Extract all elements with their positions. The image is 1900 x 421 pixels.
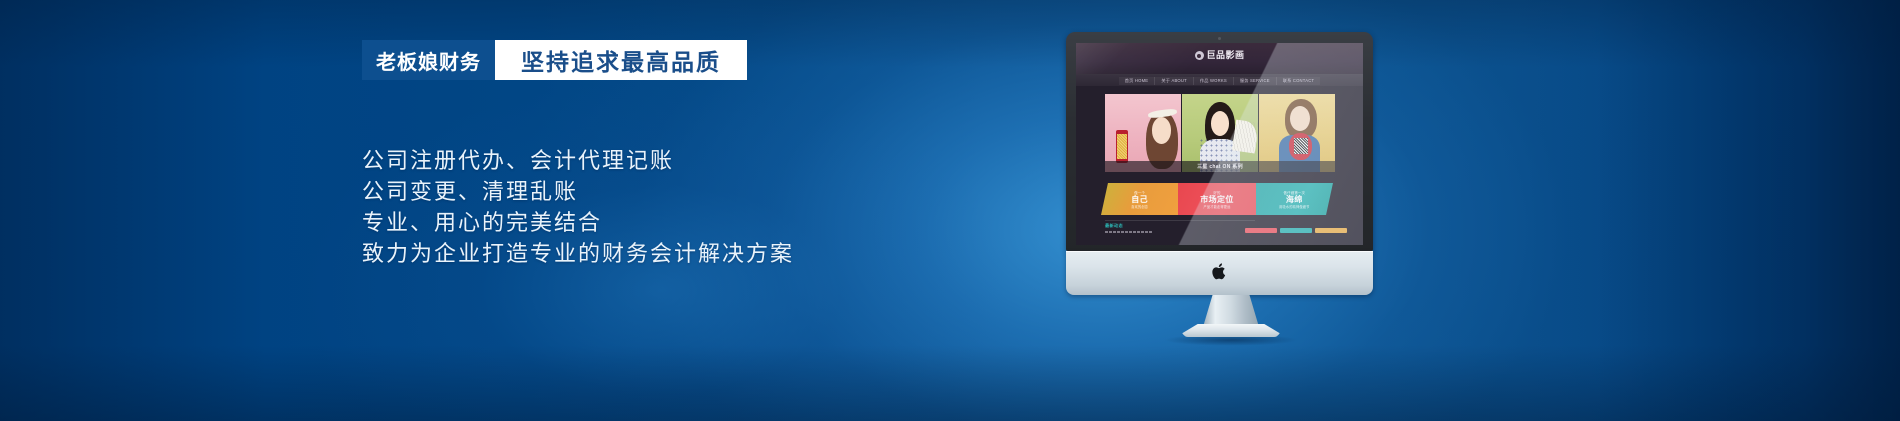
aperture-icon: [1194, 51, 1203, 60]
nav-item-contact[interactable]: 联系 CONTACT: [1276, 77, 1320, 85]
apple-logo-icon: [1212, 262, 1228, 281]
imac-base: [1182, 324, 1280, 337]
feature-panel-3[interactable]: 做仔细第一次 海绵 用吸水的精神做细节: [1256, 183, 1333, 215]
banner-stage: 老板娘财务 坚持追求最高品质 公司注册代办、会计代理记账 公司变更、清理乱账 专…: [0, 0, 1900, 421]
divider: [1105, 220, 1255, 221]
model-face: [1152, 117, 1171, 144]
site-nav: 首页 HOME 关于 ABOUT 作品 WORKS 服务 SERVICE 联系 …: [1076, 74, 1363, 86]
fan-prop: [1232, 119, 1258, 153]
feature-panel-1-sub: 喜欢的创意: [1131, 204, 1148, 209]
nav-item-works[interactable]: 作品 WORKS: [1193, 77, 1233, 85]
copy-lines: 公司注册代办、会计代理记账 公司变更、清理乱账 专业、用心的完美结合 致力为企业…: [362, 145, 1102, 269]
feature-panel-1-title: 自己: [1131, 195, 1148, 204]
slogan-label: 坚持追求最高品质: [495, 40, 747, 80]
imac-screen: 巨品影画 首页 HOME 关于 ABOUT 作品 WORKS 服务 SERVIC…: [1076, 43, 1363, 245]
gallery-caption: 三星 chat ON 系列: [1105, 161, 1335, 172]
copy-line-1: 公司注册代办、会计代理记账: [362, 145, 1102, 176]
apple-prop: [1289, 133, 1312, 160]
nav-item-about[interactable]: 关于 ABOUT: [1154, 77, 1193, 85]
site-feature-panels: 做一个 自己 喜欢的创意 好的 市场定位 产品才能走得更远 做仔细第一次 海绵: [1101, 183, 1333, 215]
gallery-caption-text: 三星 chat ON 系列: [1197, 163, 1243, 170]
imac-stand: [1203, 295, 1259, 327]
feature-panel-3-title: 海绵: [1286, 195, 1303, 204]
feature-panel-2-title: 市场定位: [1200, 195, 1234, 204]
imac-bezel: 巨品影画 首页 HOME 关于 ABOUT 作品 WORKS 服务 SERVIC…: [1066, 32, 1373, 251]
feature-panel-1[interactable]: 做一个 自己 喜欢的创意: [1101, 183, 1178, 215]
footer-button-1[interactable]: [1245, 228, 1277, 233]
copy-line-4: 致力为企业打造专业的财务会计解决方案: [362, 238, 1102, 269]
website-mockup: 巨品影画 首页 HOME 关于 ABOUT 作品 WORKS 服务 SERVIC…: [1076, 43, 1363, 245]
site-footer: 最新动态: [1105, 223, 1347, 243]
site-logo-text: 巨品影画: [1206, 51, 1244, 60]
imac-chin: [1066, 251, 1373, 295]
webcam-icon: [1218, 37, 1221, 40]
copy-line-2: 公司变更、清理乱账: [362, 176, 1102, 207]
footer-button-3[interactable]: [1315, 228, 1347, 233]
imac-illustration: 巨品影画 首页 HOME 关于 ABOUT 作品 WORKS 服务 SERVIC…: [1066, 32, 1396, 320]
banner-copy: 老板娘财务 坚持追求最高品质 公司注册代办、会计代理记账 公司变更、清理乱账 专…: [362, 40, 1102, 269]
nav-item-home[interactable]: 首页 HOME: [1119, 77, 1155, 85]
footer-buttons: [1245, 228, 1347, 233]
headline: 老板娘财务 坚持追求最高品质: [362, 40, 1102, 80]
feature-panel-3-sub: 用吸水的精神做细节: [1279, 204, 1310, 209]
nav-item-service[interactable]: 服务 SERVICE: [1233, 77, 1276, 85]
feature-panel-2[interactable]: 好的 市场定位 产品才能走得更远: [1178, 183, 1255, 215]
feature-panel-2-sub: 产品才能走得更远: [1203, 204, 1230, 209]
footer-button-2[interactable]: [1280, 228, 1312, 233]
copy-line-3: 专业、用心的完美结合: [362, 207, 1102, 238]
site-header: 巨品影画: [1076, 43, 1363, 74]
phone-prop: [1116, 130, 1128, 163]
brand-label: 老板娘财务: [362, 40, 495, 80]
site-logo[interactable]: 巨品影画: [1194, 51, 1244, 60]
model-face: [1211, 111, 1229, 136]
